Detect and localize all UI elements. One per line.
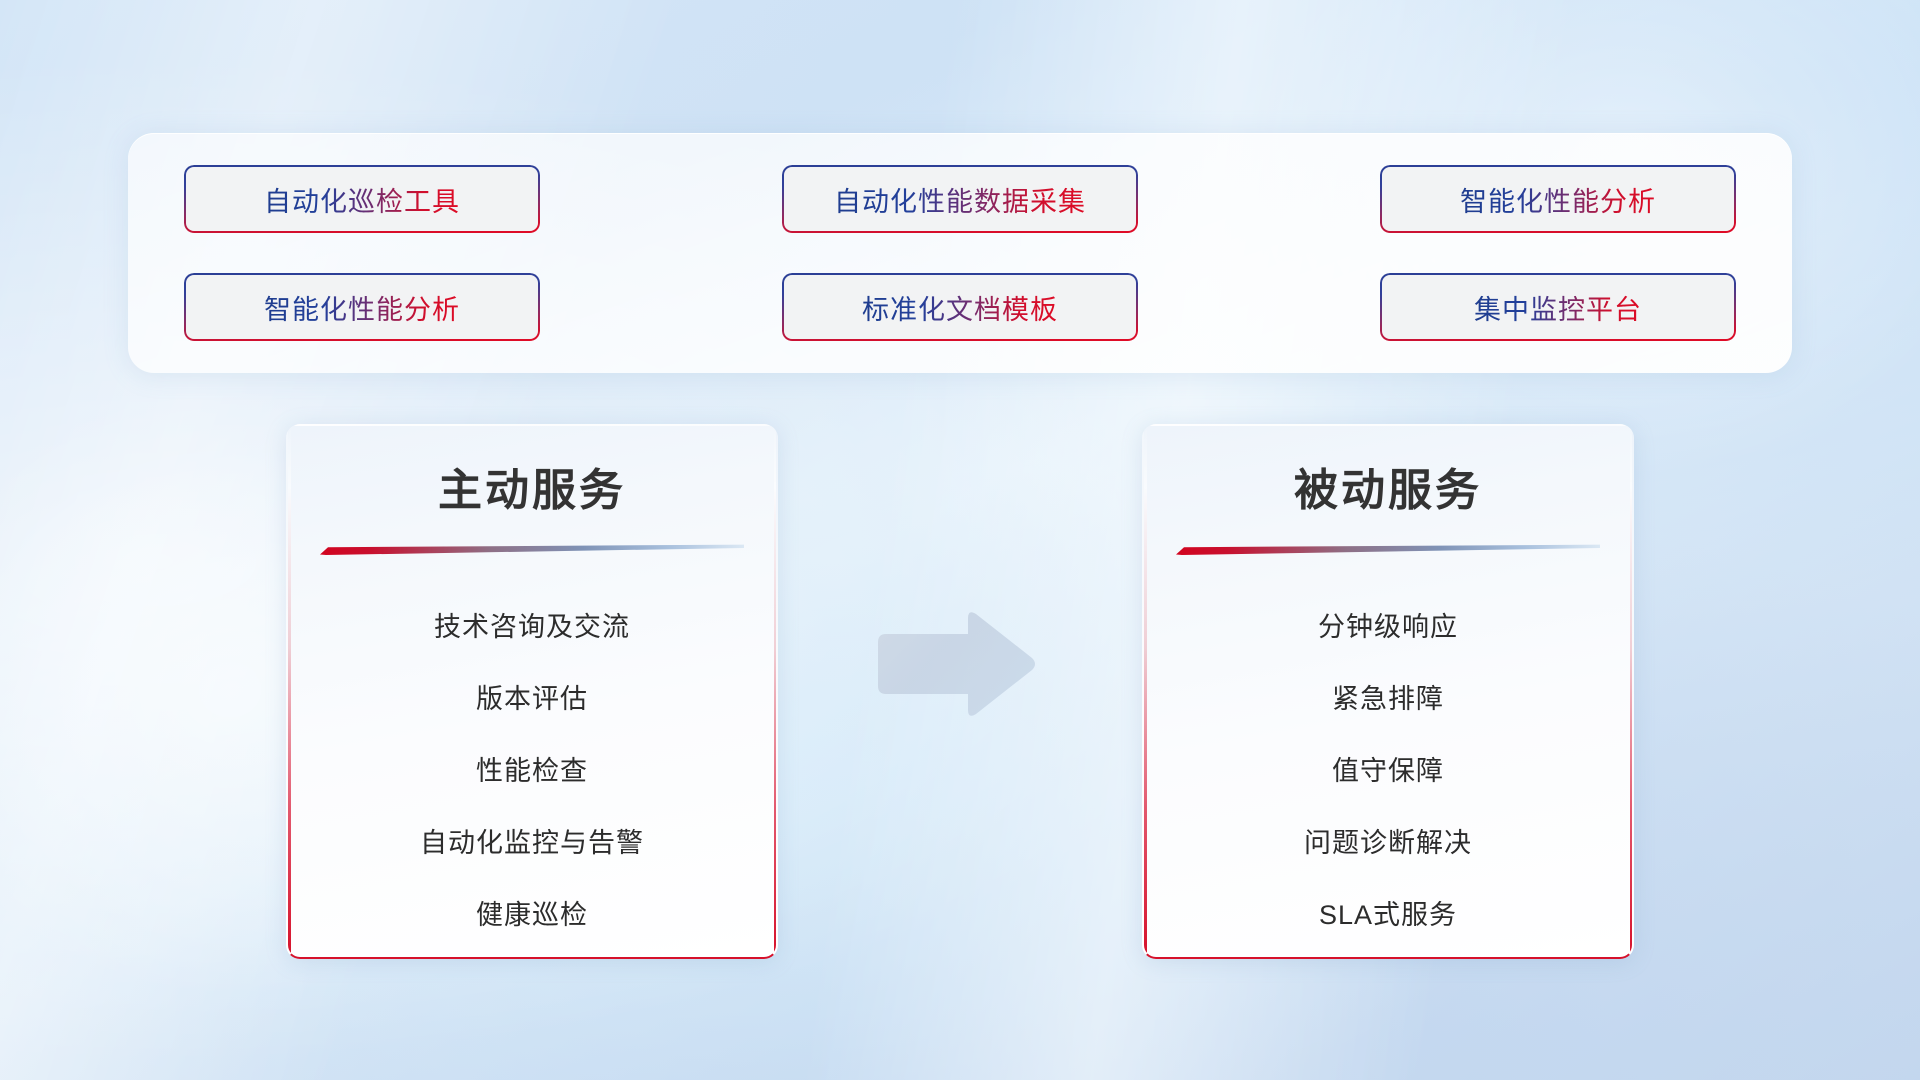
list-item: SLA式服务 — [1319, 879, 1457, 951]
list-item: 技术咨询及交流 — [434, 591, 630, 663]
capabilities-row-2: 智能化性能分析 标准化文档模板 集中监控平台 — [184, 273, 1736, 341]
service-list-reactive: 分钟级响应 紧急排障 值守保障 问题诊断解决 SLA式服务 — [1144, 591, 1632, 951]
capability-chip-automated-perf-data-collection[interactable]: 自动化性能数据采集 — [782, 165, 1138, 233]
capability-chip-label: 集中监控平台 — [1474, 288, 1642, 327]
service-card-proactive: 主动服务 技术咨询及交流 版本评估 性能检查 — [286, 424, 778, 959]
card-divider — [1176, 544, 1600, 555]
capability-chip-label: 自动化性能数据采集 — [834, 180, 1086, 219]
service-card-reactive: 被动服务 分钟级响应 紧急排障 值守保障 — [1142, 424, 1634, 959]
list-item: 自动化监控与告警 — [420, 807, 644, 879]
capabilities-panel: 自动化巡检工具 自动化性能数据采集 智能化性能分析 智能化性能分析 标准化文档模… — [128, 133, 1792, 373]
service-list-proactive: 技术咨询及交流 版本评估 性能检查 自动化监控与告警 健康巡检 — [288, 591, 776, 951]
slide-canvas: 自动化巡检工具 自动化性能数据采集 智能化性能分析 智能化性能分析 标准化文档模… — [0, 0, 1920, 1080]
list-item: 性能检查 — [476, 735, 588, 807]
capabilities-row-1: 自动化巡检工具 自动化性能数据采集 智能化性能分析 — [184, 165, 1736, 233]
card-title: 被动服务 — [1144, 454, 1632, 518]
card-top-highlight — [288, 424, 776, 426]
card-divider — [320, 544, 744, 555]
list-item: 紧急排障 — [1332, 663, 1444, 735]
arrow-right-icon — [872, 608, 1038, 720]
list-item: 健康巡检 — [476, 879, 588, 951]
capability-chip-intelligent-perf-analysis-2[interactable]: 智能化性能分析 — [184, 273, 540, 341]
list-item: 问题诊断解决 — [1304, 807, 1472, 879]
list-item: 值守保障 — [1332, 735, 1444, 807]
list-item: 分钟级响应 — [1318, 591, 1458, 663]
card-title: 主动服务 — [288, 454, 776, 518]
capability-chip-label: 智能化性能分析 — [1460, 180, 1656, 219]
list-item: 版本评估 — [476, 663, 588, 735]
capability-chip-standardized-doc-template[interactable]: 标准化文档模板 — [782, 273, 1138, 341]
capability-chip-label: 标准化文档模板 — [862, 288, 1058, 327]
capability-chip-intelligent-perf-analysis[interactable]: 智能化性能分析 — [1380, 165, 1736, 233]
capability-chip-automated-inspection-tool[interactable]: 自动化巡检工具 — [184, 165, 540, 233]
capability-chip-label: 自动化巡检工具 — [264, 180, 460, 219]
capability-chip-label: 智能化性能分析 — [264, 288, 460, 327]
card-top-highlight — [1144, 424, 1632, 426]
capability-chip-centralized-monitoring-platform[interactable]: 集中监控平台 — [1380, 273, 1736, 341]
